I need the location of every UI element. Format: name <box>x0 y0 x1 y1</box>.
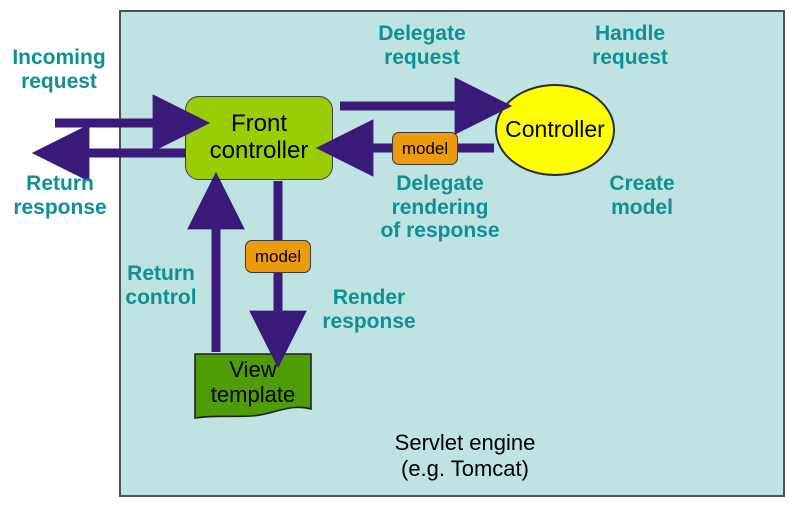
model-chip-controller[interactable]: model <box>392 132 458 165</box>
node-view-template-label: View template <box>194 358 312 413</box>
node-controller-label: Controller <box>505 117 605 143</box>
label-incoming-request: Incoming request <box>0 46 118 93</box>
label-render-response: Render response <box>296 286 442 333</box>
label-return-control: Return control <box>108 262 214 309</box>
label-create-model: Create model <box>582 172 702 219</box>
node-front-controller[interactable]: Front controller <box>185 96 333 180</box>
servlet-engine-caption: Servlet engine (e.g. Tomcat) <box>350 430 580 483</box>
model-chip-view-label: model <box>255 247 301 267</box>
model-chip-controller-label: model <box>402 139 448 159</box>
diagram-canvas: Front controller Controller View templat… <box>0 0 800 513</box>
node-view-template[interactable]: View template <box>194 353 312 419</box>
node-front-controller-label: Front controller <box>186 111 332 165</box>
servlet-engine-container <box>119 10 785 497</box>
label-return-response: Return response <box>0 172 120 219</box>
model-chip-view[interactable]: model <box>245 240 311 273</box>
node-controller[interactable]: Controller <box>495 84 615 176</box>
label-handle-request: Handle request <box>560 22 700 69</box>
label-delegate-rendering-of-response: Delegate rendering of response <box>360 172 520 243</box>
label-delegate-request: Delegate request <box>352 22 492 69</box>
